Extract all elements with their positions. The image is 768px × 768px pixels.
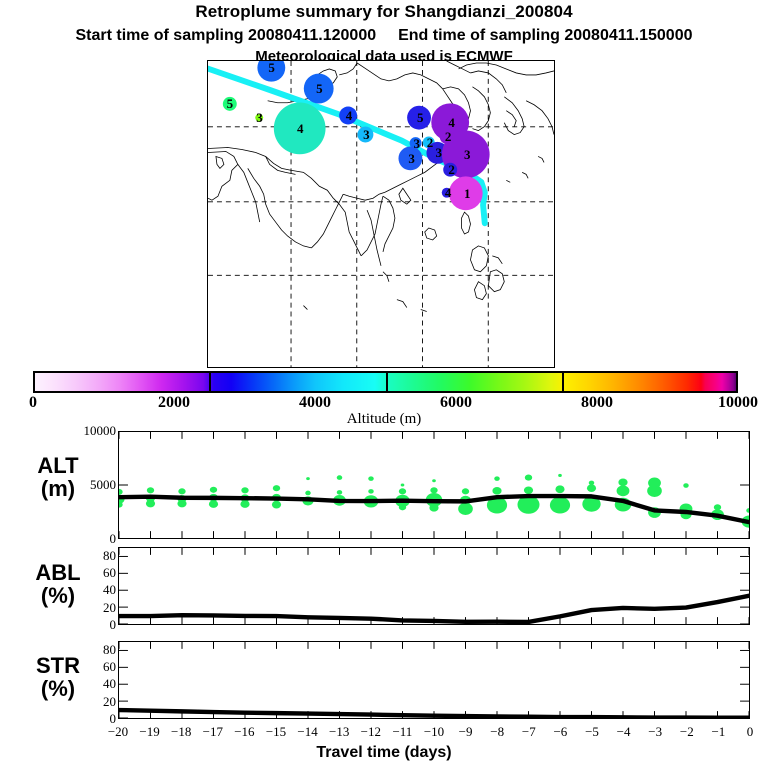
xtick--20: −20 (108, 724, 128, 740)
abl-ytick-20: 20 (72, 600, 116, 616)
str-ytick-40: 40 (72, 676, 116, 692)
abl-ytick-40: 40 (72, 582, 116, 598)
sampling-time-line: Start time of sampling 20080411.120000En… (0, 27, 768, 45)
colorbar-tick-8000: 8000 (581, 394, 613, 412)
retroplume-map[interactable]: 555344354322333241 (207, 60, 555, 368)
altitude-timeseries-panel[interactable] (118, 431, 750, 539)
alt-ytick-0: 0 (72, 531, 116, 547)
trajectory-markers (223, 61, 490, 210)
colorbar-tick-4000: 4000 (299, 394, 331, 412)
xtick--7: −7 (522, 724, 536, 740)
abl-timeseries-panel[interactable] (118, 547, 750, 625)
str-ytick-80: 80 (72, 642, 116, 658)
str-ytick-60: 60 (72, 659, 116, 675)
str-plot-canvas (119, 642, 749, 718)
xtick--1: −1 (711, 724, 725, 740)
xtick--10: −10 (424, 724, 444, 740)
alt-label-line1: ALT (6, 455, 110, 478)
abl-ytick-80: 80 (72, 548, 116, 564)
colorbar-tick-10000: 10000 (718, 394, 758, 412)
coastline-layer (208, 61, 554, 312)
start-time-label: Start time of sampling 20080411.120000 (76, 27, 377, 44)
xtick--16: −16 (234, 724, 254, 740)
end-time-label: End time of sampling 20080411.150000 (398, 27, 692, 44)
abl-ytick-60: 60 (72, 565, 116, 581)
page-title: Retroplume summary for Shangdianzi_20080… (0, 2, 768, 22)
colorbar-separator-2 (562, 371, 564, 393)
xtick--5: −5 (585, 724, 599, 740)
xtick--8: −8 (490, 724, 504, 740)
alt-ytick-5000: 5000 (72, 477, 116, 493)
xtick--19: −19 (139, 724, 159, 740)
alt-ytick-10000: 10000 (72, 423, 116, 439)
colorbar-tick-6000: 6000 (440, 394, 472, 412)
xtick--18: −18 (171, 724, 191, 740)
colorbar-tick-0: 0 (29, 394, 37, 412)
xtick-0: 0 (747, 724, 754, 740)
colorbar-separator-0 (209, 371, 211, 393)
str-ytick-20: 20 (72, 694, 116, 710)
xtick--9: −9 (459, 724, 473, 740)
alt-plot-canvas (119, 432, 749, 538)
xtick--6: −6 (553, 724, 567, 740)
xtick--17: −17 (203, 724, 223, 740)
abl-plot-canvas (119, 548, 749, 624)
abl-ytick-0: 0 (72, 617, 116, 633)
xtick--13: −13 (329, 724, 349, 740)
xtick--4: −4 (617, 724, 631, 740)
str-axis-ticks (119, 642, 749, 718)
x-axis-title: Travel time (days) (0, 744, 768, 762)
xtick--2: −2 (680, 724, 694, 740)
xtick--12: −12 (361, 724, 381, 740)
map-canvas (208, 61, 554, 367)
abl-axis-ticks (119, 548, 749, 624)
xtick--14: −14 (297, 724, 317, 740)
xtick--11: −11 (392, 724, 412, 740)
colorbar-tick-2000: 2000 (158, 394, 190, 412)
str-timeseries-panel[interactable] (118, 641, 750, 719)
map-gridlines (208, 61, 554, 367)
colorbar-separator-1 (386, 371, 388, 393)
xtick--3: −3 (648, 724, 662, 740)
xtick--15: −15 (266, 724, 286, 740)
